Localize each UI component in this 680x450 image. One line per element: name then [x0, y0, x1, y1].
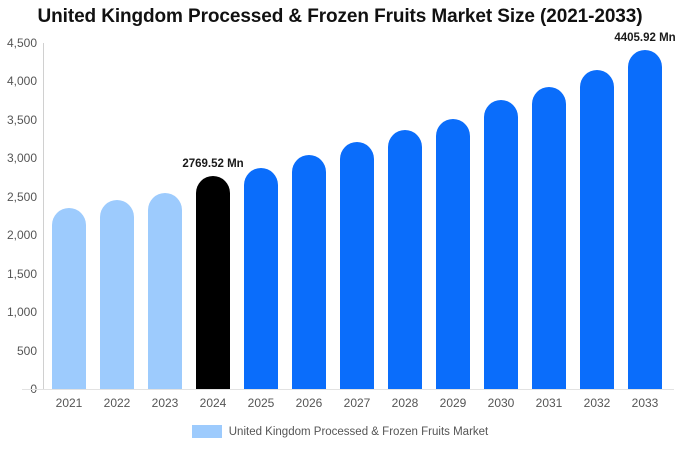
bar-rect	[340, 142, 374, 389]
bar-rect	[388, 130, 422, 389]
chart-title: United Kingdom Processed & Frozen Fruits…	[0, 6, 680, 28]
bar-rect	[292, 155, 326, 389]
bar-rect	[52, 208, 86, 389]
y-tick-label: 3,500	[0, 113, 37, 127]
y-tick-label: 2,000	[0, 228, 37, 242]
bar-chart: United Kingdom Processed & Frozen Fruits…	[0, 0, 680, 450]
x-tick-label-2033: 2033	[615, 396, 675, 410]
bar-rect	[244, 168, 278, 389]
bar-rect	[628, 50, 662, 389]
y-tick-label: 500	[0, 344, 37, 358]
plot-area	[43, 43, 673, 389]
y-tick-label: 1,000	[0, 305, 37, 319]
chart-legend: United Kingdom Processed & Frozen Fruits…	[0, 425, 680, 438]
y-tick-label: 1,500	[0, 267, 37, 281]
y-axis-labels: 4,5004,0003,5003,0002,5002,0001,5001,000…	[0, 0, 38, 450]
bar-rect	[484, 100, 518, 389]
bar-value-label-2033: 4405.92 Mn	[614, 32, 675, 44]
bar-value-label-2024: 2769.52 Mn	[182, 158, 243, 170]
bar-rect	[532, 87, 566, 389]
bar-rect	[436, 119, 470, 389]
bar-rect	[196, 176, 230, 389]
bar-rect	[148, 193, 182, 389]
legend-swatch	[192, 425, 222, 438]
y-tick-label: 4,000	[0, 74, 37, 88]
x-axis-line	[22, 389, 674, 390]
y-tick-label: 2,500	[0, 190, 37, 204]
y-tick-label: 3,000	[0, 151, 37, 165]
bar-rect	[100, 200, 134, 389]
bar-rect	[580, 70, 614, 389]
legend-label: United Kingdom Processed & Frozen Fruits…	[229, 426, 489, 438]
y-tick-label: 4,500	[0, 36, 37, 50]
